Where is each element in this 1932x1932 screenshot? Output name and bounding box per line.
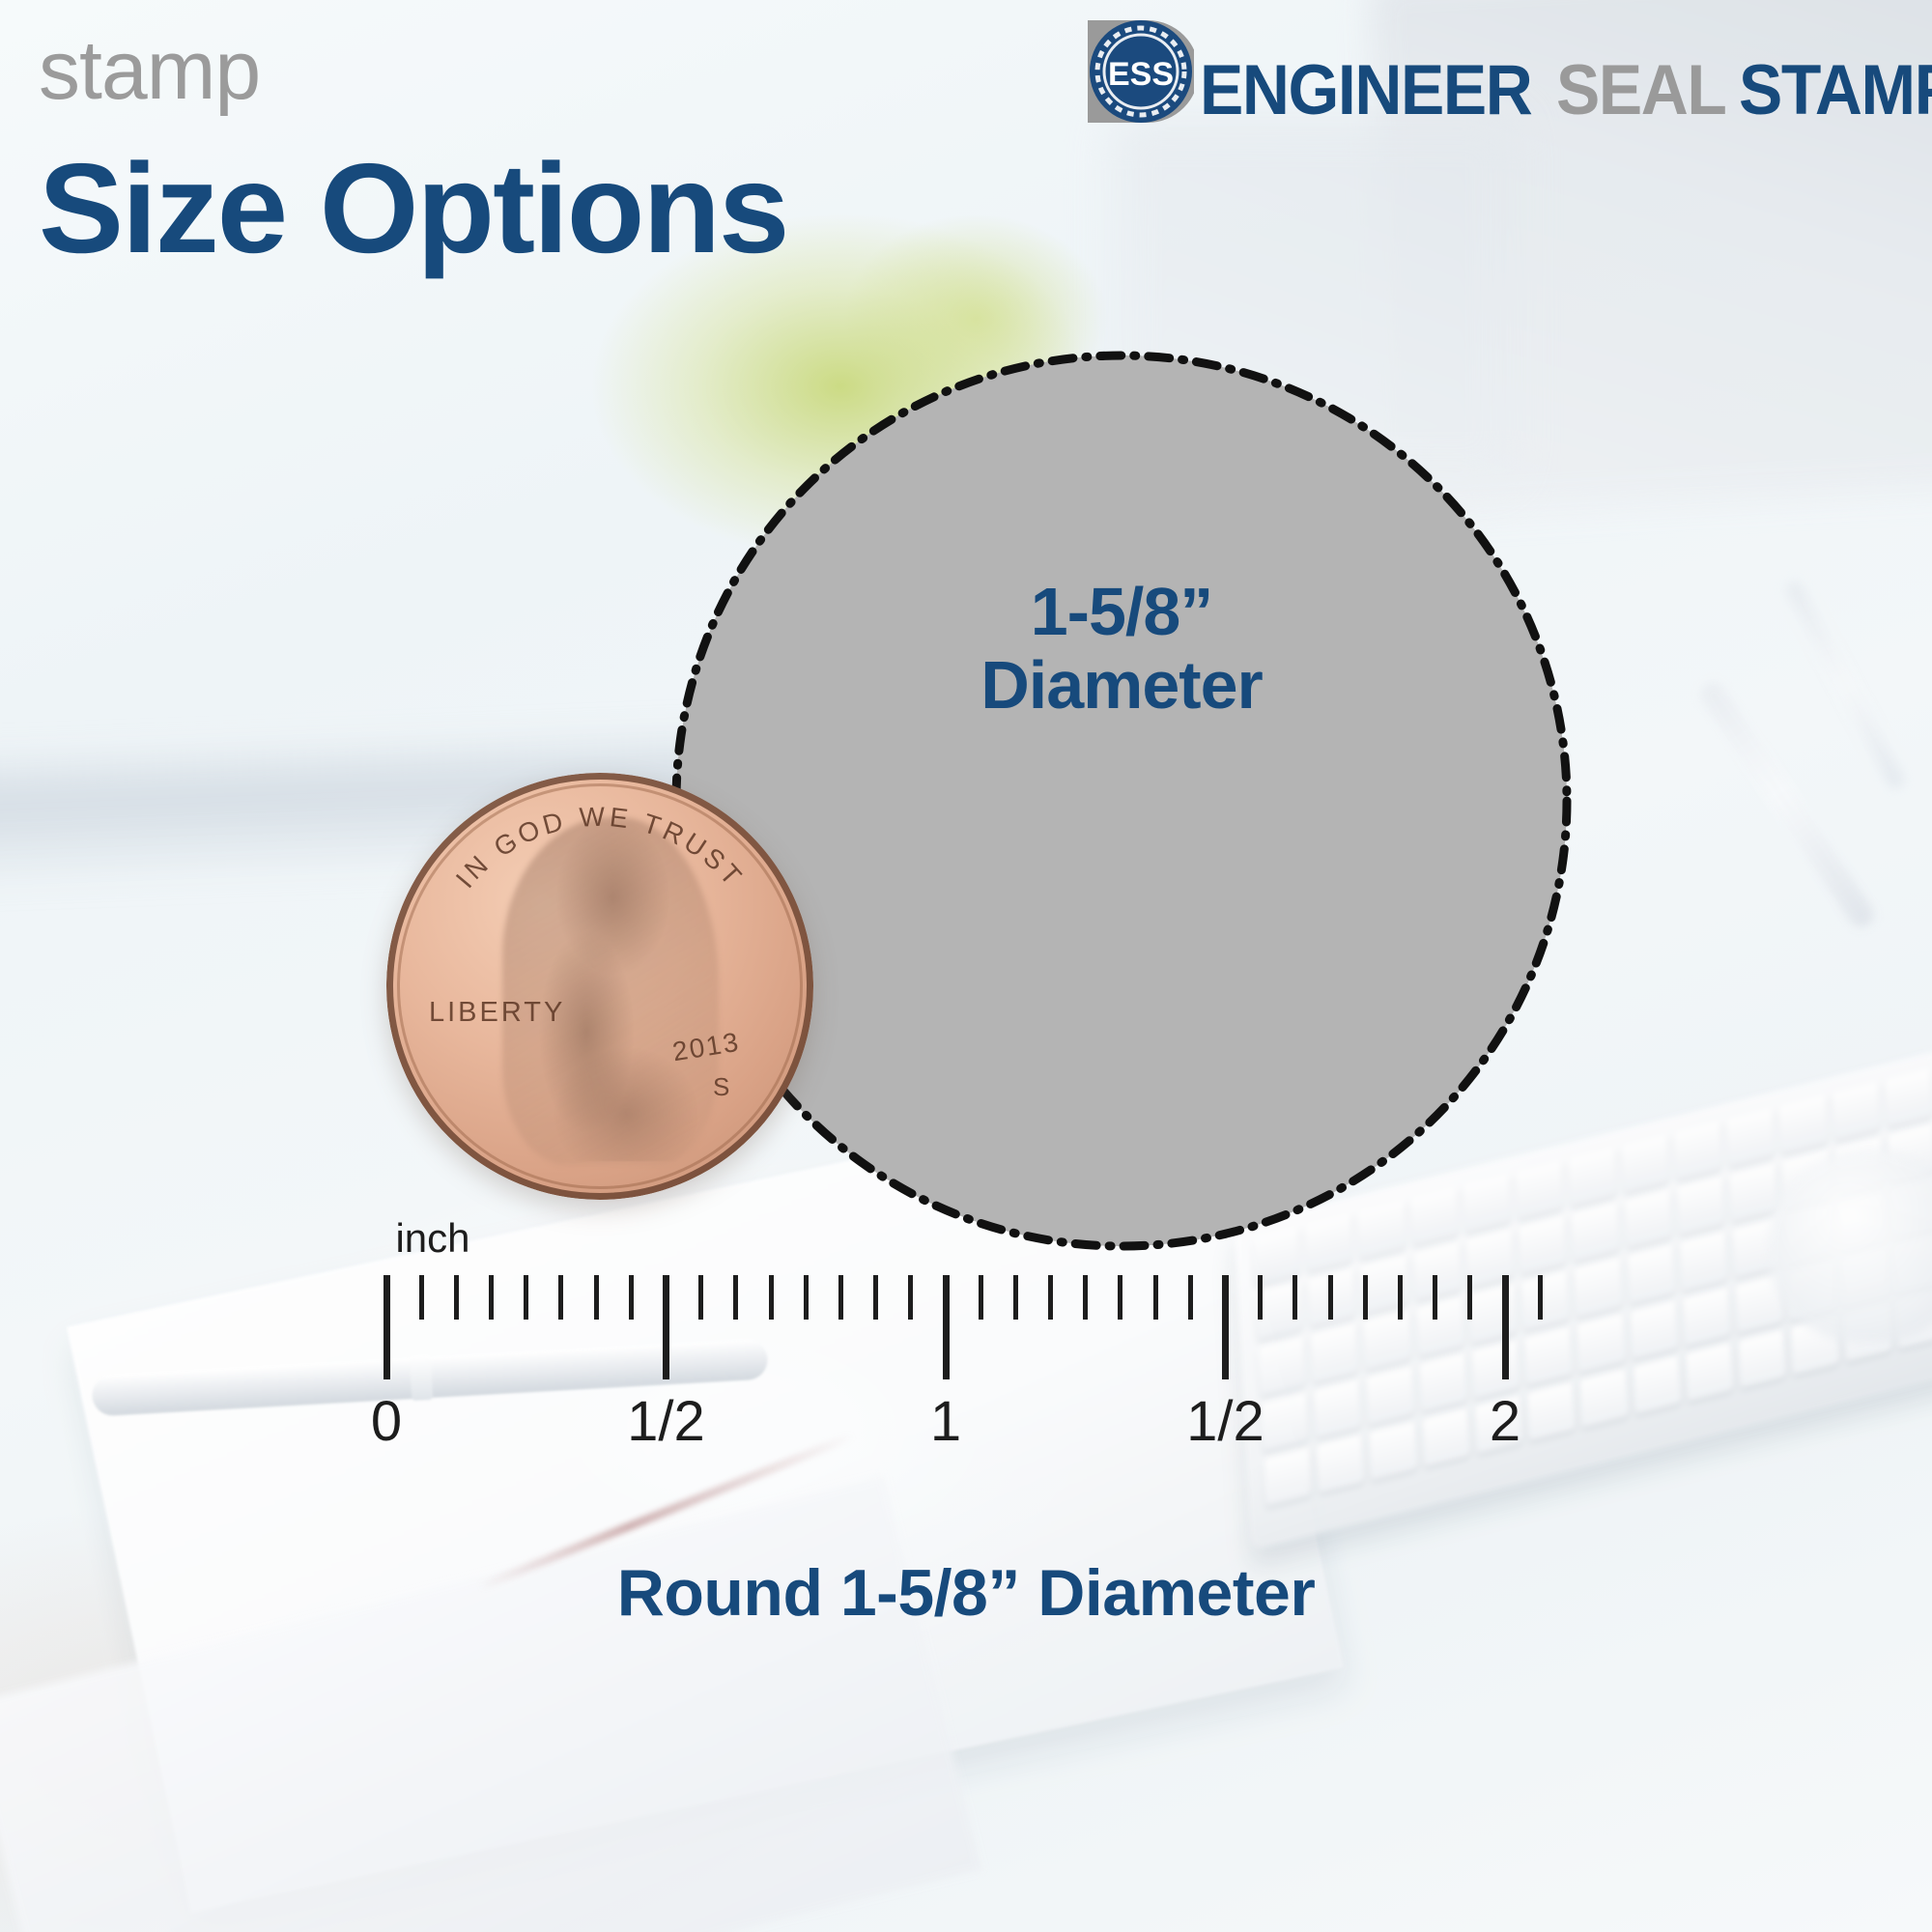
size-options-graphic: stamp Size Options ESS ENGINEER SEAL STA… (0, 0, 1932, 1932)
logo-word-stamps: STAMPS (1739, 58, 1932, 123)
coin-liberty-text: LIBERTY (429, 997, 565, 1029)
circle-size-label: 1-5/8” Diameter (676, 576, 1567, 722)
svg-text:ESS: ESS (1108, 56, 1174, 93)
logo-word-engineer: ENGINEER (1200, 58, 1531, 123)
circle-dimension-unit: Diameter (676, 649, 1567, 723)
ess-badge-icon: ESS (1080, 14, 1194, 128)
coin-motto-arc: IN GOD WE TRUST (386, 773, 813, 1200)
eyebrow-label: stamp (39, 29, 260, 112)
brand-logo[interactable]: ESS ENGINEER SEAL STAMPS .COM (1080, 14, 1920, 129)
coin-mint-mark: S (713, 1072, 729, 1102)
reference-penny-coin: IN GOD WE TRUST LIBERTY 2013 S (386, 773, 813, 1200)
circle-dimension: 1-5/8” (676, 576, 1567, 649)
size-caption: Round 1-5/8” Diameter (0, 1555, 1932, 1631)
svg-text:IN GOD WE TRUST: IN GOD WE TRUST (450, 802, 750, 894)
page-title: Size Options (39, 145, 787, 272)
logo-word-seal: SEAL (1556, 58, 1725, 123)
